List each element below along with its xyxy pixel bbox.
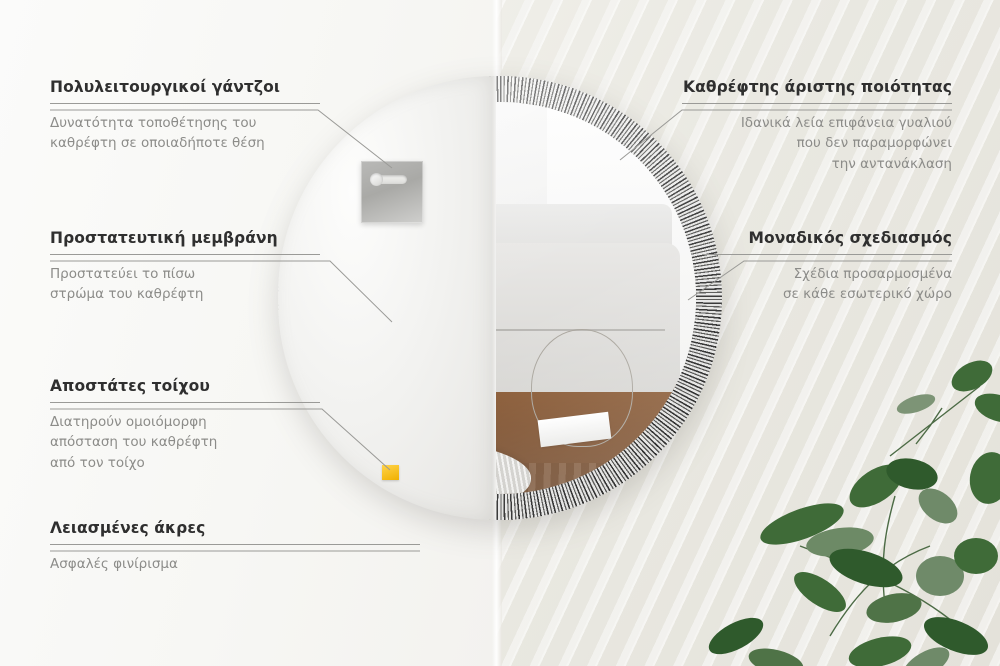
callout-body-line: στρώμα του καθρέφτη <box>50 284 320 304</box>
callout-body-line: από τον τοίχο <box>50 453 320 473</box>
keyhole-hook-icon <box>373 175 407 184</box>
callout-body: Ιδανικά λεία επιφάνεια γυαλιού που δεν π… <box>682 113 952 174</box>
callout-body: Σχέδια προσαρμοσμένα σε κάθε εσωτερικό χ… <box>702 264 952 305</box>
callout-body-line: που δεν παραμορφώνει <box>682 133 952 153</box>
hook-plate-detail <box>361 161 423 223</box>
callout-title: Μοναδικός σχεδιασμός <box>702 229 952 247</box>
callout-rule <box>50 402 320 403</box>
callout-body-line: την αντανάκλαση <box>682 154 952 174</box>
callout-title: Αποστάτες τοίχου <box>50 377 320 395</box>
callout-rule <box>50 254 320 255</box>
callout-protective-membrane: Προστατευτική μεμβράνη Προστατεύει το πί… <box>50 229 320 305</box>
callout-title: Προστατευτική μεμβράνη <box>50 229 320 247</box>
callout-smoothed-edges: Λειασμένες άκρες Ασφαλές φινίρισμα <box>50 519 420 574</box>
callout-multifunctional-hooks: Πολυλειτουργικοί γάντζοι Δυνατότητα τοπο… <box>50 78 320 154</box>
infographic-canvas: Πολυλειτουργικοί γάντζοι Δυνατότητα τοπο… <box>0 0 1000 666</box>
callout-title: Πολυλειτουργικοί γάντζοι <box>50 78 320 96</box>
callout-body: Δυνατότητα τοποθέτησης του καθρέφτη σε ο… <box>50 113 320 154</box>
callout-rule <box>50 103 320 104</box>
callout-title: Καθρέφτης άριστης ποιότητας <box>682 78 952 96</box>
eucalyptus-plant <box>680 346 1000 666</box>
callout-body-line: Προστατεύει το πίσω <box>50 264 320 284</box>
callout-body-line: καθρέφτη σε οποιαδήποτε θέση <box>50 133 320 153</box>
callout-wall-spacers: Αποστάτες τοίχου Διατηρούν ομοιόμορφη απ… <box>50 377 320 473</box>
callout-body: Διατηρούν ομοιόμορφη απόσταση του καθρέφ… <box>50 412 320 473</box>
callout-body-line: σε κάθε εσωτερικό χώρο <box>702 284 952 304</box>
callout-body: Ασφαλές φινίρισμα <box>50 554 420 574</box>
callout-body-line: Σχέδια προσαρμοσμένα <box>702 264 952 284</box>
callout-body-line: απόσταση του καθρέφτη <box>50 432 320 452</box>
callout-top-quality-mirror: Καθρέφτης άριστης ποιότητας Ιδανικά λεία… <box>682 78 952 174</box>
callout-title: Λειασμένες άκρες <box>50 519 420 537</box>
wall-spacer-icon <box>382 465 399 480</box>
callout-unique-design: Μοναδικός σχεδιασμός Σχέδια προσαρμοσμέν… <box>702 229 952 305</box>
callout-body-line: Δυνατότητα τοποθέτησης του <box>50 113 320 133</box>
callout-body-line: Ασφαλές φινίρισμα <box>50 554 420 574</box>
callout-rule <box>682 103 952 104</box>
callout-body-line: Ιδανικά λεία επιφάνεια γυαλιού <box>682 113 952 133</box>
round-mirror-product <box>278 76 722 520</box>
callout-rule <box>50 544 420 545</box>
callout-body: Προστατεύει το πίσω στρώμα του καθρέφτη <box>50 264 320 305</box>
callout-rule <box>702 254 952 255</box>
callout-body-line: Διατηρούν ομοιόμορφη <box>50 412 320 432</box>
